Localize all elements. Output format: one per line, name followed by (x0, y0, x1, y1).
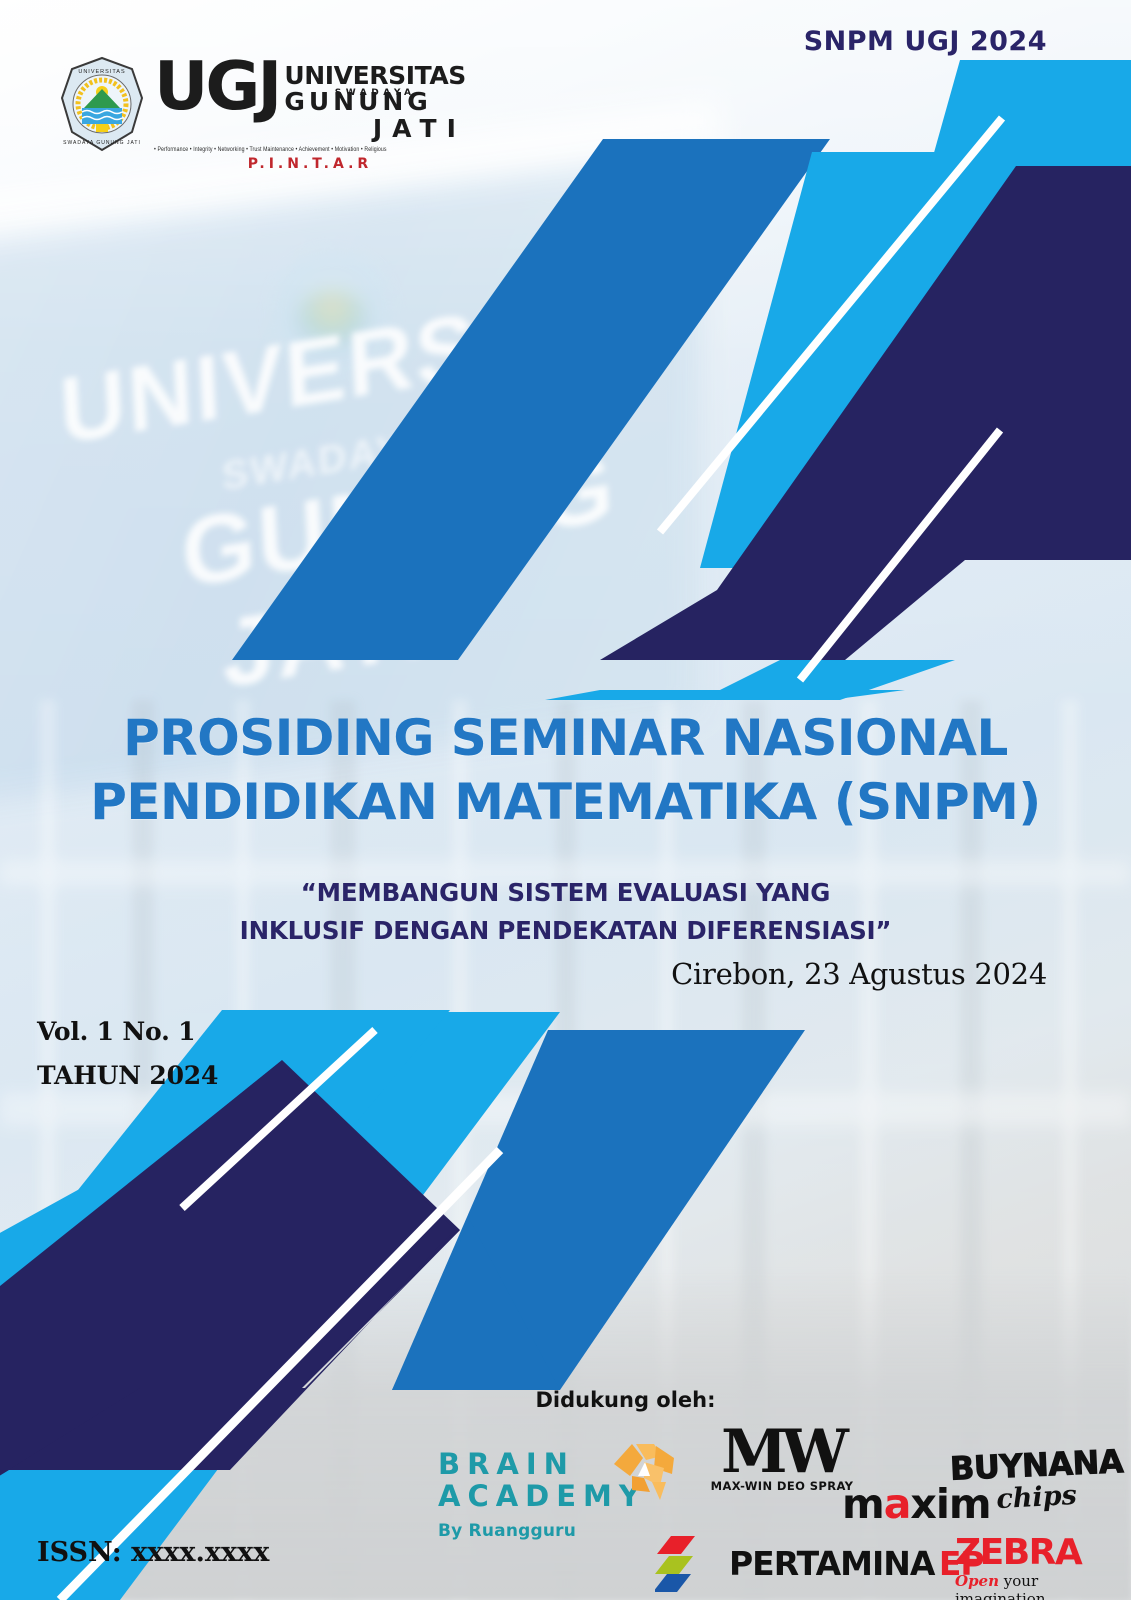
brain-bubble-icon (610, 1442, 676, 1502)
event-place-date: Cirebon, 23 Agustus 2024 (671, 957, 1047, 991)
ugj-shield-emblem-icon: UNIVERSITAS SWADAYA GUNUNG JATI (60, 56, 144, 152)
sponsor-logos: BRAIN ACADEMY By Ruangguru MW MAX-WIN DE… (430, 1430, 1130, 1600)
ugj-wordmark: UGJ UNIVERSITAS SWADAYA GUNUNG JATI • Pe… (154, 56, 466, 172)
zebra-tagline-open: Open (955, 1572, 999, 1590)
page-subtitle: “MEMBANGUN SISTEM EVALUASI YANG INKLUSIF… (0, 874, 1131, 950)
ugj-line-universitas: UNIVERSITAS (284, 63, 466, 88)
issue-info: Vol. 1 No. 1 TAHUN 2024 (37, 1010, 218, 1098)
pertamina-word: PERTAMINA (729, 1544, 934, 1583)
page-subtitle-line1: “MEMBANGUN SISTEM EVALUASI YANG (0, 874, 1131, 912)
page-subtitle-line2: INKLUSIF DENGAN PENDEKATAN DIFERENSIASI” (0, 912, 1131, 950)
ugj-values-tagline: • Performance • Integrity • Networking •… (154, 146, 466, 154)
svg-text:UNIVERSITAS: UNIVERSITAS (78, 69, 125, 75)
svg-text:SWADAYA GUNUNG JATI: SWADAYA GUNUNG JATI (63, 140, 141, 146)
max-win-monogram: MW (692, 1424, 872, 1481)
pertamina-arrow-icon (655, 1534, 717, 1592)
sponsor-brain-academy: BRAIN ACADEMY By Ruangguru (438, 1448, 647, 1541)
brain-academy-byline: By Ruangguru (438, 1521, 647, 1541)
zebra-tagline: Open your imagination. (955, 1572, 1130, 1600)
maxim-part1: m (842, 1480, 884, 1528)
cover-page: UNIVERSITAS SWADAYA GUNUNG JATI (0, 0, 1131, 1600)
sponsors-heading: Didukung oleh: (0, 1388, 1131, 1412)
ugj-pintar-tagline: P.I.N.T.A.R (154, 156, 466, 172)
shape-top-cyan-lower-2 (545, 690, 905, 700)
sponsor-buynana-chips: BUYNANA chips (950, 1446, 1123, 1513)
ugj-logo-lockup: UNIVERSITAS SWADAYA GUNUNG JATI UGJ UNIV… (60, 56, 466, 172)
issn-label: ISSN: xxxx.xxxx (37, 1537, 269, 1568)
maxim-part2: a (884, 1480, 911, 1528)
issue-year: TAHUN 2024 (37, 1054, 218, 1098)
page-title-line2: PENDIDIKAN MATEMATIKA (SNPM) (0, 770, 1131, 834)
ugj-line-jati: JATI (284, 116, 466, 141)
header-tagline: SNPM UGJ 2024 (804, 26, 1047, 57)
ugj-line-gunung: GUNUNG (284, 89, 466, 114)
zebra-wordmark: ZEBRA (955, 1535, 1130, 1571)
ugj-acronym: UGJ (154, 60, 279, 112)
page-title: PROSIDING SEMINAR NASIONAL PENDIDIKAN MA… (0, 706, 1131, 834)
page-title-line1: PROSIDING SEMINAR NASIONAL (0, 706, 1131, 770)
sponsor-zebra: ZEBRA Open your imagination. (955, 1535, 1130, 1600)
issue-volume: Vol. 1 No. 1 (37, 1010, 218, 1054)
sponsor-pertamina-ep: PERTAMINA EP (655, 1534, 984, 1592)
